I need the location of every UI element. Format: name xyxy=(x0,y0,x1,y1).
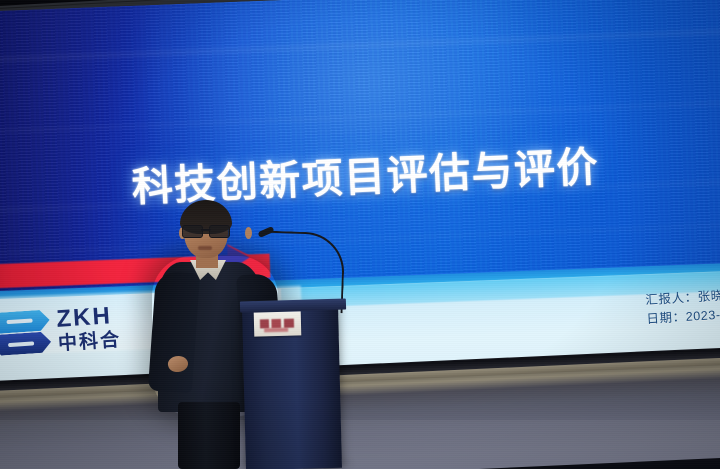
eyeglasses-icon xyxy=(182,225,230,236)
slide-meta: 汇报人：张晓磊 日期：2023-3 xyxy=(645,286,720,329)
floor-sheen xyxy=(0,420,720,469)
presenter-left-arm xyxy=(148,271,200,394)
podium-name-plate xyxy=(254,311,302,336)
zkh-logo: ZKH 中科合 xyxy=(0,303,122,360)
presentation-photo: ZKH 中科合 汇报人：张晓磊 日期：2023-3 科技创新项目评估与评价 xyxy=(0,0,720,469)
logo-latin-text: ZKH xyxy=(56,304,120,332)
presenter-legs xyxy=(178,402,240,469)
led-screen: ZKH 中科合 汇报人：张晓磊 日期：2023-3 科技创新项目评估与评价 xyxy=(0,0,720,390)
zkh-hexagon-mark-icon xyxy=(0,307,52,359)
logo-chinese-text: 中科合 xyxy=(58,331,122,354)
